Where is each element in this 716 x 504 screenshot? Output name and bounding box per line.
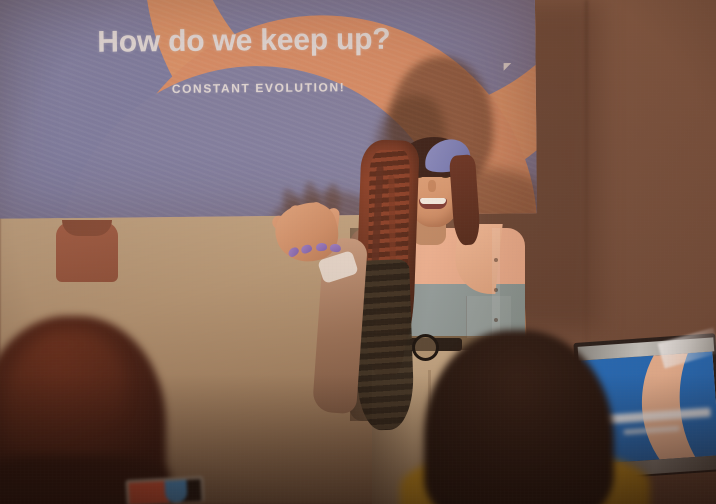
presentation-photo: How do we keep up? CONSTANT EVOLUTION! ◤ — [0, 0, 716, 504]
device-screen-blue-block — [164, 480, 187, 503]
handheld-device — [125, 476, 204, 504]
presenter-nose — [428, 180, 436, 192]
shirt-button — [494, 318, 498, 322]
shirt-button — [494, 288, 498, 292]
shirt-button — [494, 258, 498, 262]
device-screen — [129, 479, 202, 504]
presenter-mouth — [419, 198, 447, 209]
belt-buckle — [412, 334, 439, 361]
presenter-teeth — [420, 198, 446, 204]
fingernail — [329, 243, 341, 252]
device-screen-red-block — [129, 481, 170, 504]
